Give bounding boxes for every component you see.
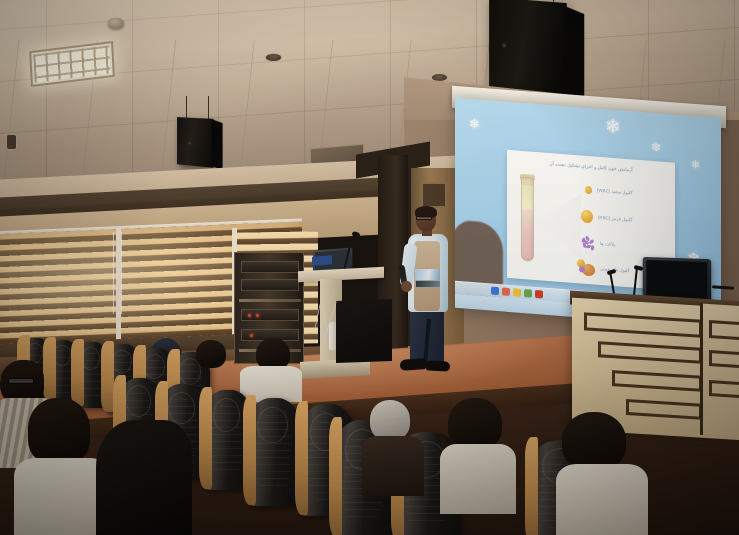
slide-item-2: پلاکت ها <box>581 235 615 252</box>
slide-item-1: گلبول قرمز (RBC) <box>581 209 632 226</box>
glasses-icon <box>8 378 34 384</box>
audience-member-right-torso <box>556 464 648 535</box>
wbc-dot-icon <box>585 186 592 195</box>
desk-object-blue <box>312 255 332 266</box>
taskbar-icon <box>491 287 499 296</box>
speaker-driver-dot <box>502 43 506 47</box>
snowflake-icon: ❄ <box>691 160 700 172</box>
slide-item-label: گلبول سفید (WBC) <box>597 188 632 197</box>
status-led-icon <box>256 314 259 317</box>
troffer-louver-grid <box>33 45 110 82</box>
presenter-apron-stripe <box>415 269 440 280</box>
audience-member-dark-hair-torso <box>440 444 516 514</box>
podium-side-panel <box>703 304 739 437</box>
wall-picture <box>421 182 447 208</box>
podium-inlay <box>709 320 739 340</box>
snowflake-icon: ❄ <box>469 117 480 131</box>
presenter <box>396 207 458 379</box>
downlight-icon <box>265 53 282 62</box>
snowflake-icon: ❄ <box>605 117 621 137</box>
podium-inlay <box>709 380 739 398</box>
slide-item-0: گلبول سفید (WBC) <box>585 186 632 198</box>
speaker-driver-dot <box>188 142 191 145</box>
glasses-icon <box>416 216 432 220</box>
audience-member-right <box>562 412 626 470</box>
speaker-wire <box>186 96 187 120</box>
av-unit <box>241 309 299 321</box>
status-led-icon <box>250 334 253 337</box>
slide-item-3: گلبول های خونی <box>577 259 630 279</box>
lecture-hall-scene: ❄ ❄ ❄ ❄ ❄ ❄ ❄ آزمایش خون کامل و اجزای تش… <box>0 0 739 535</box>
audience-member-front-left <box>28 398 90 464</box>
presenter-shoe <box>400 358 427 371</box>
podium-inlay <box>612 370 702 392</box>
downlight-icon <box>6 134 17 150</box>
presenter-hand <box>401 281 412 292</box>
taskbar-icon <box>502 287 510 296</box>
taskbar-icon <box>513 288 521 297</box>
av-unit <box>241 279 299 291</box>
blind-cord[interactable] <box>113 232 114 314</box>
slide-item-label: گلبول قرمز (RBC) <box>598 214 632 223</box>
audience-member-dark-hair <box>448 398 502 450</box>
presenter-apron-stripe <box>416 281 440 287</box>
taskbar-icon <box>535 290 543 299</box>
water-bottle <box>329 322 336 350</box>
speaker-front-face <box>212 119 223 170</box>
speaker-front-face <box>564 6 585 108</box>
podium-seam <box>700 303 703 435</box>
status-led-icon <box>248 314 251 317</box>
snowflake-icon: ❄ <box>651 141 661 154</box>
blind-cord[interactable] <box>121 232 122 314</box>
platelets-icon <box>581 235 595 250</box>
smoke-detector-icon <box>108 18 124 29</box>
audience-member-foreground <box>96 420 192 535</box>
audience-member-gray-hair-torso <box>362 436 424 496</box>
amplifier-box <box>336 299 392 363</box>
podium-inlay <box>626 399 702 420</box>
podium-inlay <box>598 341 702 364</box>
av-unit <box>241 261 299 273</box>
podium-inlay <box>584 312 702 337</box>
slide-item-label: پلاکت ها <box>600 241 615 248</box>
callout-fan <box>535 190 581 260</box>
taskbar-icon <box>524 289 532 298</box>
seat[interactable] <box>248 398 300 506</box>
ceiling-speaker-left <box>177 117 214 168</box>
test-tube-icon <box>521 177 534 262</box>
podium-inlay <box>709 350 739 368</box>
audience-member-back-right <box>196 340 226 368</box>
audience-member-gray-hair <box>370 400 410 440</box>
rbc-dot-icon <box>581 209 593 223</box>
blood-cluster-icon <box>577 259 595 276</box>
presenter-shoe <box>426 360 450 371</box>
av-shelf <box>239 299 301 302</box>
